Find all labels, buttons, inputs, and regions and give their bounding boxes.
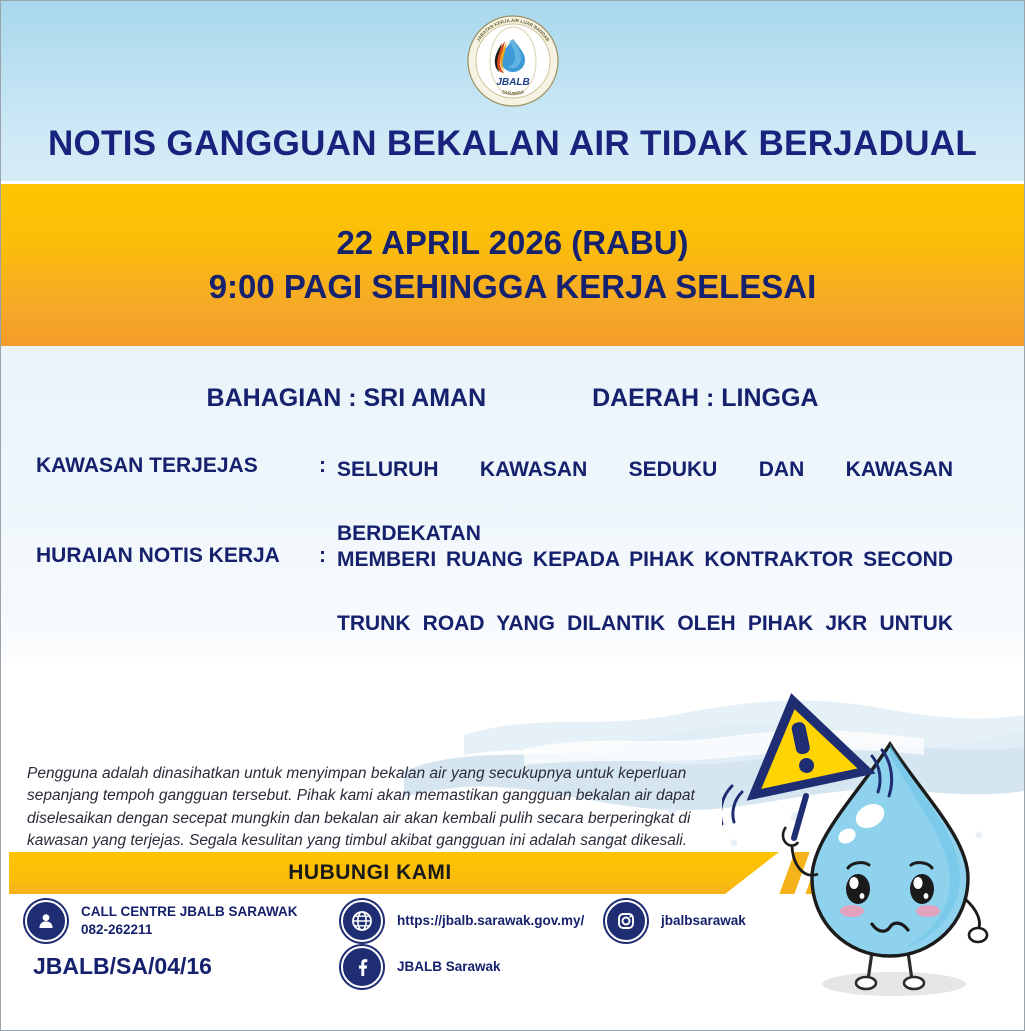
poster-title-bar: NOTIS GANGGUAN BEKALAN AIR TIDAK BERJADU… xyxy=(1,126,1024,161)
person-icon xyxy=(25,900,67,942)
contact-line-1: CALL CENTRE JBALB SARAWAK xyxy=(81,904,298,919)
poster-header: JBALB JABATAN KERJA AIR LUAR BANDAR SARA… xyxy=(1,1,1024,181)
bahagian-label: BAHAGIAN : SRI AMAN xyxy=(207,384,487,413)
contact-call-centre[interactable]: CALL CENTRE JBALB SARAWAK 082-262211 xyxy=(25,900,298,942)
date-time-banner: 22 APRIL 2026 (RABU) 9:00 PAGI SEHINGGA … xyxy=(1,184,1024,346)
field-value: SELURUH KAWASAN SEDUKU DAN KAWASAN BERDE… xyxy=(337,454,953,550)
notice-date: 22 APRIL 2026 (RABU) xyxy=(336,221,688,265)
jbalb-sarawak-seal-logo: JBALB JABATAN KERJA AIR LUAR BANDAR SARA… xyxy=(467,15,559,107)
field-colon: : xyxy=(319,454,326,478)
field-label: HURAIAN NOTIS KERJA xyxy=(36,544,280,568)
contact-bar: HUBUNGI KAMI xyxy=(9,852,779,894)
facebook-icon xyxy=(341,946,383,988)
reference-number: JBALB/SA/04/16 xyxy=(33,953,212,980)
contact-line-2: 082-262211 xyxy=(81,922,152,937)
contact-bar-title: HUBUNGI KAMI xyxy=(288,861,452,885)
poster-title: NOTIS GANGGUAN BEKALAN AIR TIDAK BERJADU… xyxy=(1,126,1024,161)
field-colon: : xyxy=(319,544,326,568)
contact-facebook[interactable]: JBALB Sarawak xyxy=(341,946,501,988)
contact-text: JBALB Sarawak xyxy=(397,958,501,976)
water-drop-mascot xyxy=(722,684,1022,1014)
contact-line-1: https://jbalb.sarawak.gov.my/ xyxy=(397,913,584,928)
contact-line-1: JBALB Sarawak xyxy=(397,959,501,974)
disclaimer-text: Pengguna adalah dinasihatkan untuk menyi… xyxy=(27,763,727,853)
division-district-row: BAHAGIAN : SRI AMAN DAERAH : LINGGA xyxy=(1,384,1024,413)
logo-center-label: JBALB xyxy=(496,77,529,88)
poster-body: BAHAGIAN : SRI AMAN DAERAH : LINGGA KAWA… xyxy=(1,346,1024,696)
contact-website[interactable]: https://jbalb.sarawak.gov.my/ xyxy=(341,900,584,942)
globe-icon xyxy=(341,900,383,942)
field-value-line: SELURUH KAWASAN SEDUKU DAN KAWASAN xyxy=(337,454,953,518)
field-value-line: MEMBERI RUANG KEPADA PIHAK KONTRAKTOR SE… xyxy=(337,544,953,608)
daerah-label: DAERAH : LINGGA xyxy=(592,384,818,413)
notice-time: 9:00 PAGI SEHINGGA KERJA SELESAI xyxy=(209,265,817,309)
contact-text: https://jbalb.sarawak.gov.my/ xyxy=(397,912,584,930)
contact-text: CALL CENTRE JBALB SARAWAK 082-262211 xyxy=(81,903,298,939)
water-disruption-notice-poster: JBALB JABATAN KERJA AIR LUAR BANDAR SARA… xyxy=(0,0,1025,1031)
instagram-icon xyxy=(605,900,647,942)
field-label: KAWASAN TERJEJAS xyxy=(36,454,258,478)
